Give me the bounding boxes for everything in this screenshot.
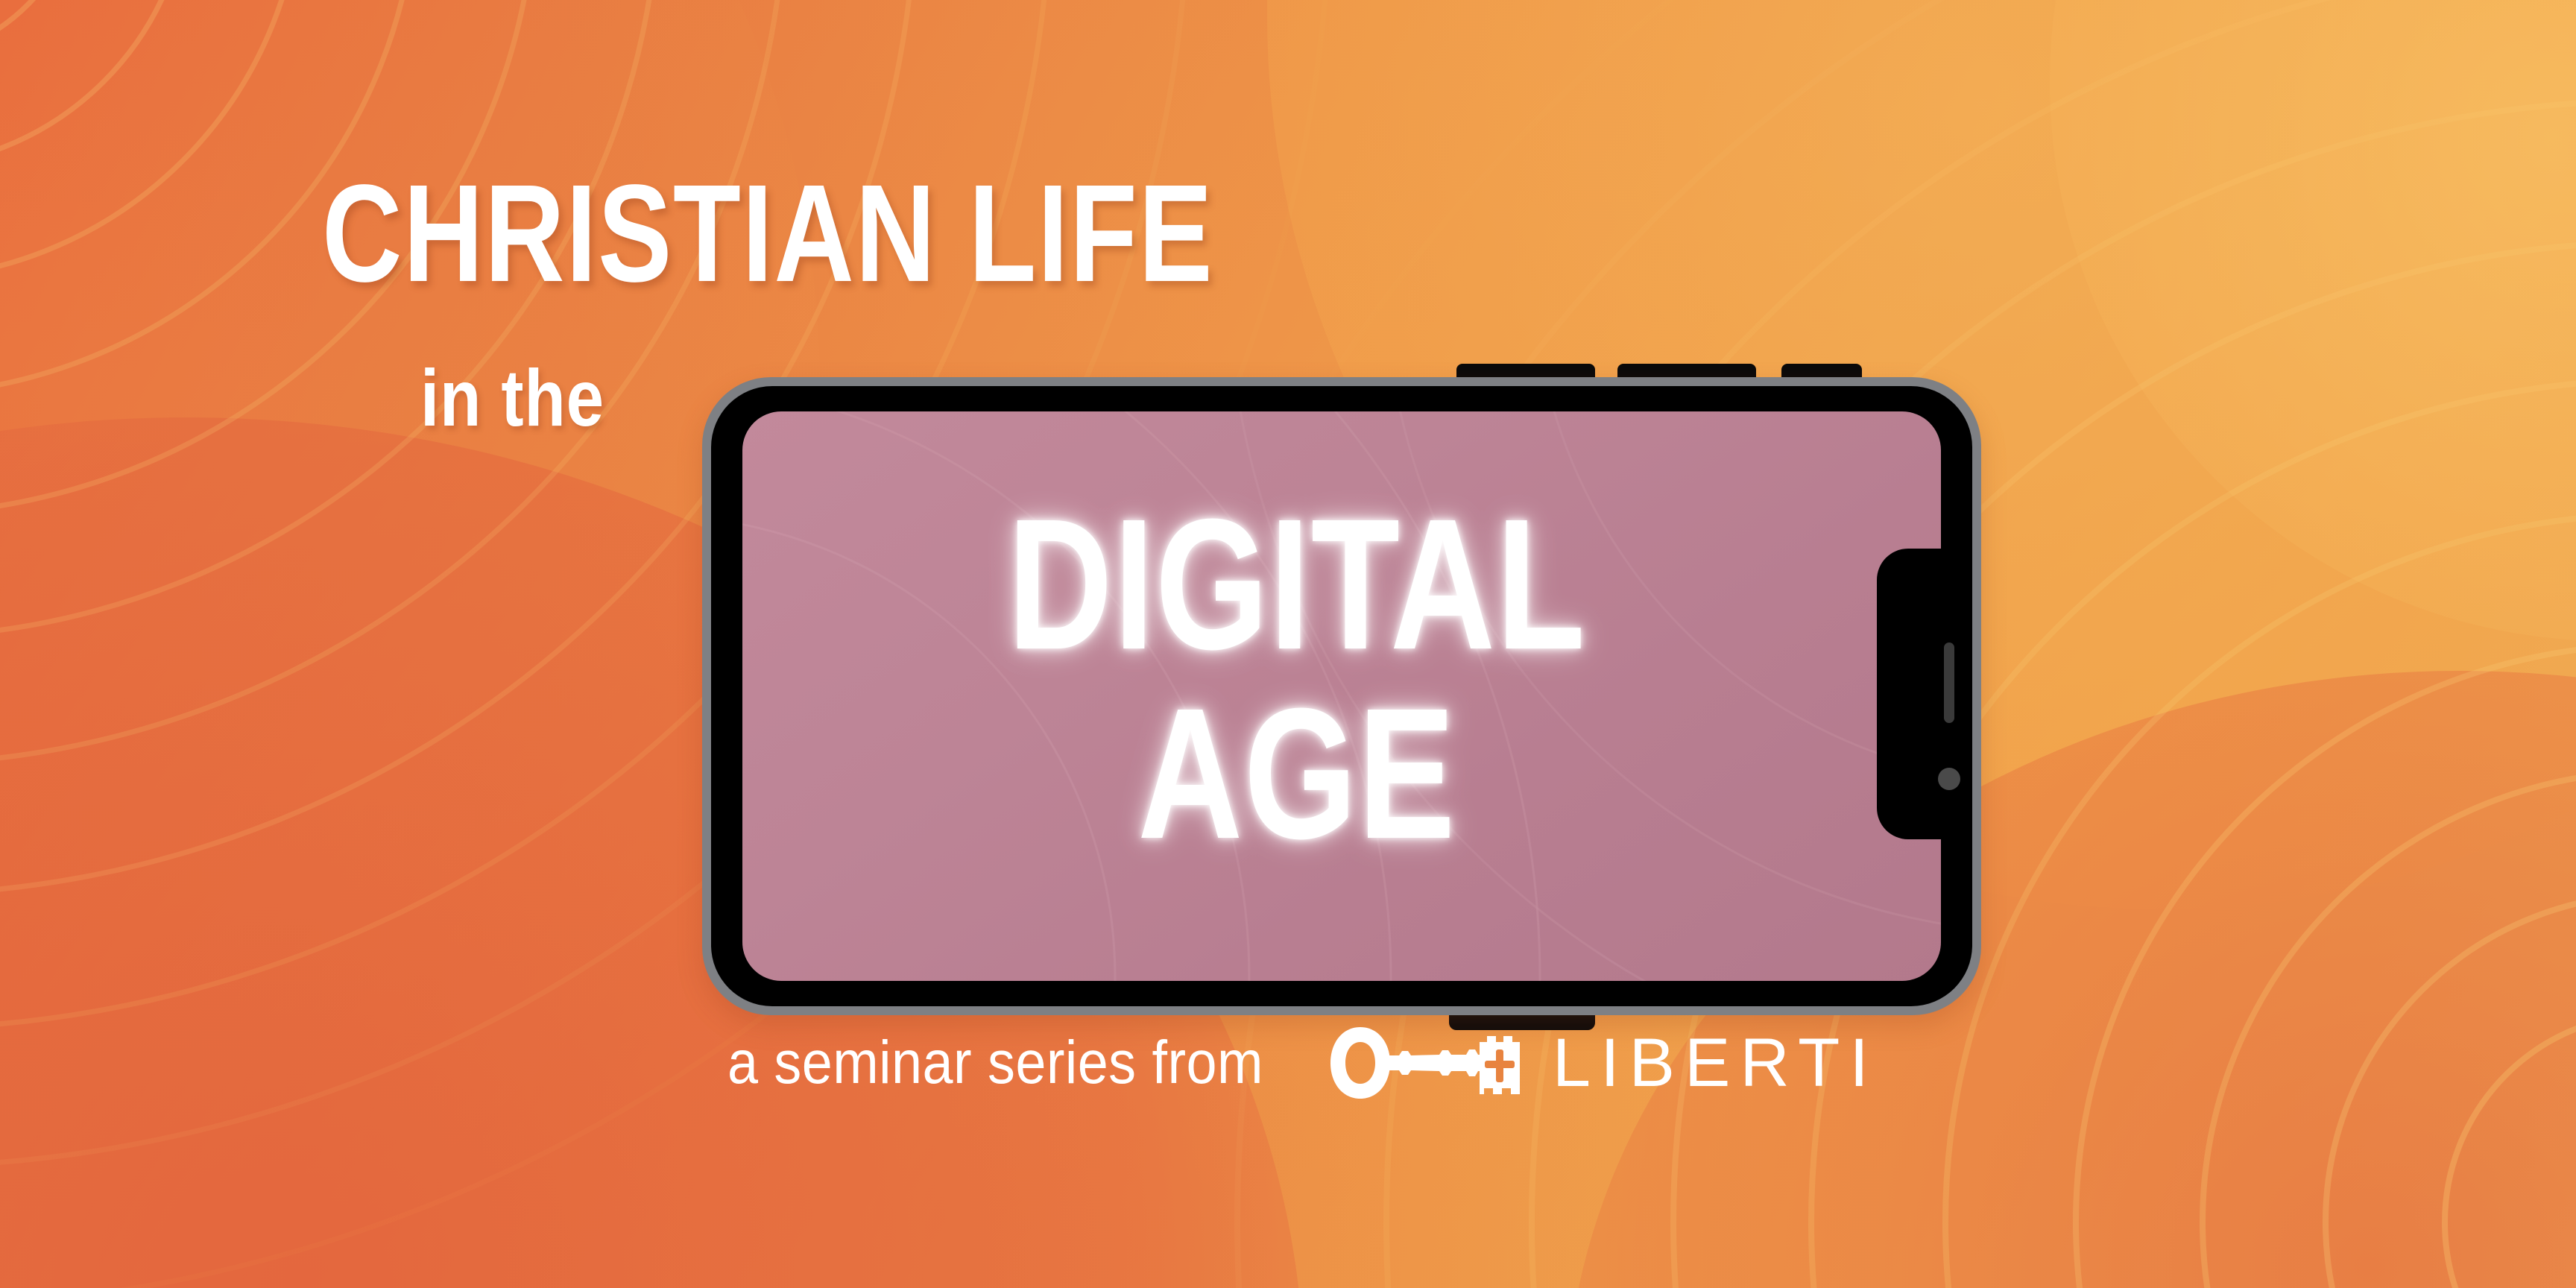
- front-camera: [1938, 768, 1960, 790]
- screen-text-block: DIGITAL AGE: [742, 495, 1851, 863]
- phone-notch: [1877, 549, 1941, 839]
- brand-lockup[interactable]: LIBERTI: [1328, 1023, 1878, 1103]
- screen-headline-line-1: DIGITAL: [865, 495, 1730, 674]
- earpiece-speaker: [1944, 643, 1954, 723]
- page-title: CHRISTIAN LIFE: [322, 170, 1213, 297]
- page-subtitle: in the: [420, 358, 604, 438]
- screen-headline-line-2: AGE: [865, 684, 1730, 863]
- footer-tagline: a seminar series from: [727, 1028, 1263, 1098]
- skeleton-key-icon: [1328, 1023, 1536, 1103]
- subline-block: in the: [420, 358, 640, 438]
- phone-mockup: DIGITAL AGE: [702, 377, 1981, 1015]
- headline-block: CHRISTIAN LIFE: [322, 170, 1436, 297]
- footer-block: a seminar series from: [0, 1023, 2576, 1103]
- phone-screen: DIGITAL AGE: [742, 411, 1941, 981]
- brand-name: LIBERTI: [1553, 1024, 1878, 1102]
- poster-canvas: CHRISTIAN LIFE in the: [0, 0, 2576, 1288]
